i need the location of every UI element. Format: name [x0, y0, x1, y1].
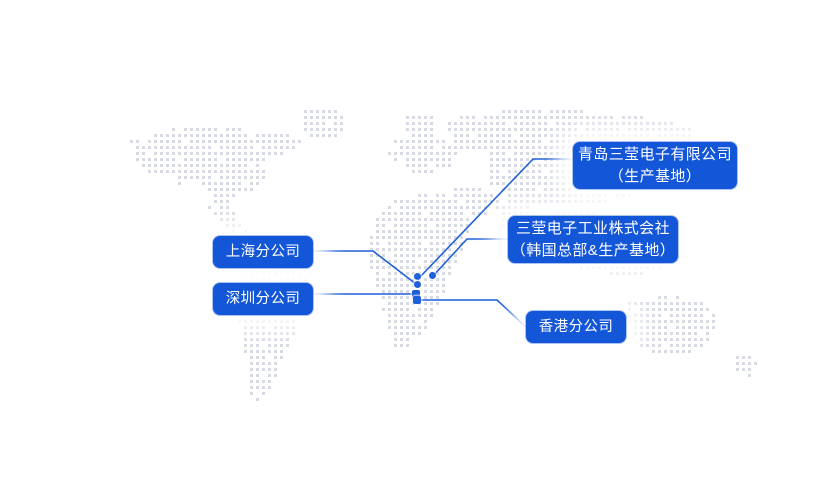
- marker-qingdao[interactable]: [414, 273, 421, 280]
- connector-korea: [433, 239, 508, 276]
- label-shanghai-line-1: 上海分公司: [226, 242, 301, 263]
- world-map-infographic: 青岛三莹电子有限公司（生产基地）三莹电子工业株式会社（韩国总部&生产基地）上海分…: [0, 0, 824, 480]
- label-qingdao-line-2: （生产基地）: [609, 166, 701, 187]
- label-qingdao[interactable]: 青岛三莹电子有限公司（生产基地）: [573, 142, 737, 189]
- label-korea-hq[interactable]: 三莹电子工业株式会社（韩国总部&生产基地）: [508, 216, 678, 263]
- label-shenzhen-line-1: 深圳分公司: [226, 289, 301, 310]
- marker-hongkong[interactable]: [413, 296, 421, 304]
- label-shenzhen[interactable]: 深圳分公司: [213, 283, 313, 315]
- label-hongkong-line-1: 香港分公司: [539, 317, 614, 338]
- label-shanghai[interactable]: 上海分公司: [213, 236, 313, 268]
- connector-lines-layer: [0, 0, 824, 480]
- label-korea-hq-line-1: 三莹电子工业株式会社: [516, 218, 670, 239]
- connector-hongkong: [416, 300, 526, 327]
- marker-shanghai[interactable]: [414, 281, 421, 288]
- label-qingdao-line-1: 青岛三莹电子有限公司: [578, 144, 732, 165]
- label-hongkong[interactable]: 香港分公司: [526, 311, 626, 343]
- label-korea-hq-line-2: （韩国总部&生产基地）: [511, 240, 675, 261]
- marker-korea[interactable]: [429, 272, 436, 279]
- connector-shanghai: [313, 251, 416, 284]
